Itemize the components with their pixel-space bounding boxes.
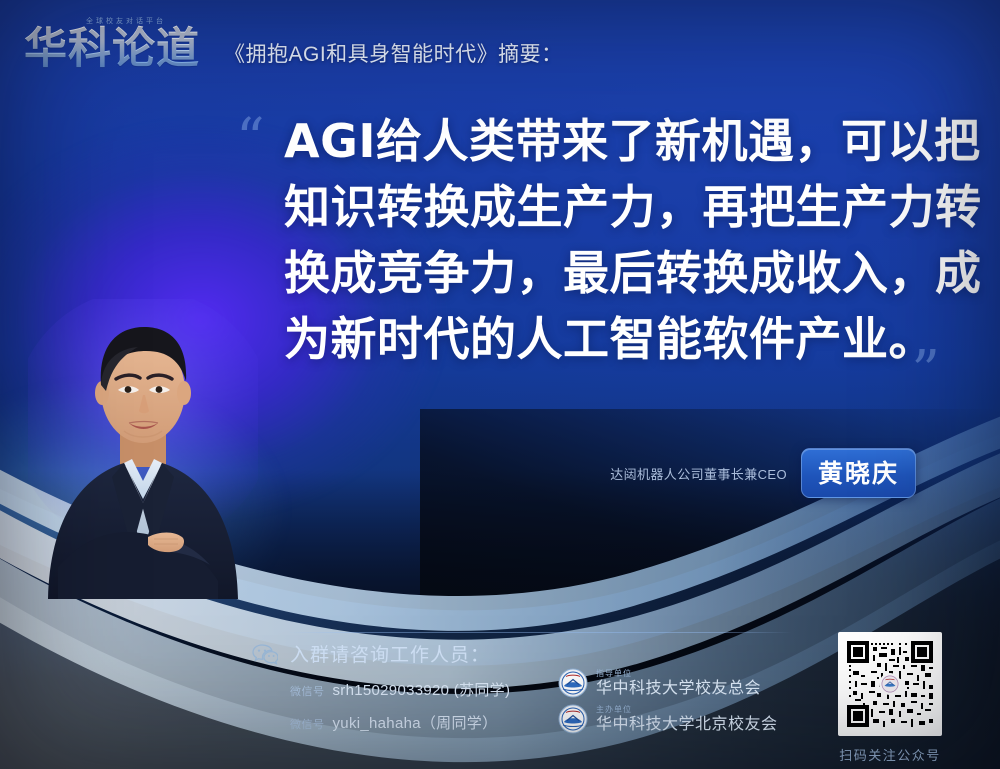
vignette-overlay xyxy=(0,0,1000,769)
poster-canvas: 全球校友对话平台 华科论道 《拥抱AGI和具身智能时代》摘要： “ AGI给人类… xyxy=(0,0,1000,769)
